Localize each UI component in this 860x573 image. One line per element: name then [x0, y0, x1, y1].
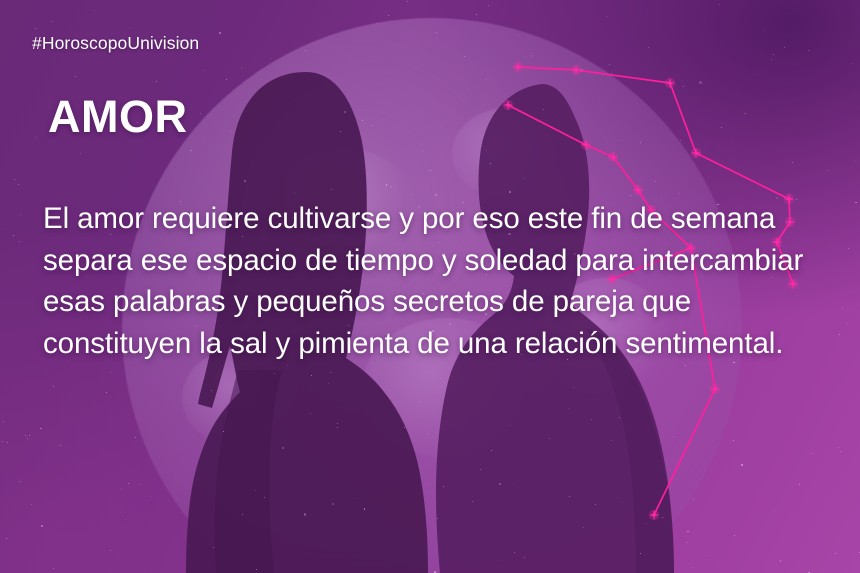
background-star — [480, 469, 481, 470]
background-star — [435, 194, 437, 196]
background-star — [687, 531, 689, 533]
background-star — [19, 241, 20, 242]
background-star — [95, 10, 96, 11]
background-star — [436, 32, 437, 33]
horoscope-card: #HoroscopoUnivision AMOR El amor requier… — [0, 0, 860, 573]
background-star — [422, 151, 423, 152]
background-star — [35, 28, 36, 29]
background-star — [244, 180, 246, 182]
background-star — [20, 481, 21, 482]
background-star — [282, 447, 284, 449]
background-star — [640, 553, 641, 554]
background-star — [361, 110, 362, 111]
background-star — [499, 483, 501, 485]
background-star — [371, 125, 372, 126]
background-star — [485, 78, 487, 80]
background-star — [80, 153, 81, 154]
background-star — [464, 56, 465, 57]
hashtag-label: #HoroscopoUnivision — [32, 33, 199, 54]
background-star — [569, 496, 570, 497]
background-star — [490, 163, 491, 164]
background-star — [390, 186, 392, 188]
background-star — [828, 170, 829, 171]
background-star — [611, 73, 612, 74]
background-star — [764, 30, 765, 31]
background-star — [111, 372, 112, 373]
background-star — [75, 76, 76, 77]
background-star — [543, 109, 544, 110]
background-star — [524, 178, 525, 179]
background-star — [706, 555, 707, 556]
background-star — [434, 571, 436, 573]
background-star — [168, 500, 169, 501]
background-star — [775, 510, 776, 511]
background-star — [771, 59, 772, 60]
background-star — [611, 440, 612, 441]
background-star — [514, 552, 515, 553]
background-star — [120, 512, 121, 513]
background-star — [203, 70, 204, 71]
background-star — [847, 323, 848, 324]
background-star — [581, 69, 584, 72]
background-star — [60, 445, 61, 446]
background-star — [364, 508, 366, 510]
background-star — [25, 435, 26, 436]
background-star — [340, 131, 341, 132]
background-star — [35, 137, 36, 138]
background-star — [685, 365, 686, 366]
background-star — [121, 489, 122, 490]
background-star — [648, 47, 649, 48]
background-star — [674, 436, 675, 437]
background-star — [18, 184, 19, 185]
background-star — [219, 32, 221, 34]
background-star — [274, 373, 275, 374]
background-star — [337, 427, 338, 428]
background-star — [573, 387, 574, 388]
background-star — [150, 496, 151, 497]
background-star — [53, 386, 54, 387]
background-star — [437, 518, 438, 519]
background-star — [524, 557, 525, 558]
background-star — [733, 440, 734, 441]
background-star — [344, 111, 346, 113]
background-star — [808, 50, 809, 51]
background-star — [621, 140, 622, 141]
background-star — [840, 451, 841, 452]
background-star — [377, 23, 378, 24]
background-star — [231, 131, 232, 132]
background-star — [646, 523, 648, 525]
background-star — [191, 402, 192, 403]
background-star — [835, 553, 836, 554]
background-star — [337, 423, 339, 425]
background-star — [40, 428, 42, 430]
background-star — [7, 442, 8, 443]
background-star — [591, 419, 592, 420]
background-star — [5, 229, 6, 230]
background-star — [52, 21, 53, 22]
background-star — [389, 390, 391, 392]
background-star — [699, 81, 702, 84]
background-star — [211, 390, 212, 391]
background-star — [27, 438, 28, 439]
background-star — [680, 140, 681, 141]
background-star — [693, 567, 694, 568]
background-star — [609, 64, 610, 65]
background-star — [295, 193, 296, 194]
background-star — [331, 189, 332, 190]
background-star — [721, 127, 722, 128]
background-star — [486, 150, 487, 151]
background-star — [686, 542, 687, 543]
background-star — [328, 383, 329, 384]
background-star — [226, 79, 227, 80]
horoscope-body-text: El amor requiere cultivarse y por eso es… — [43, 198, 839, 364]
background-star — [838, 447, 839, 448]
background-star — [106, 392, 107, 393]
background-star — [156, 81, 157, 82]
background-star — [420, 401, 421, 402]
page-title: AMOR — [48, 92, 187, 142]
background-star — [130, 27, 131, 28]
background-star — [185, 409, 186, 410]
background-star — [842, 308, 843, 309]
background-star — [362, 120, 363, 121]
background-star — [135, 437, 136, 438]
background-star — [719, 4, 720, 5]
background-star — [773, 54, 774, 55]
background-star — [353, 498, 354, 499]
background-star — [330, 372, 331, 373]
background-star — [190, 150, 192, 152]
background-star — [407, 1, 408, 2]
background-star — [855, 202, 857, 204]
background-star — [2, 441, 3, 442]
background-star — [443, 486, 444, 487]
background-star — [241, 67, 242, 68]
background-star — [472, 501, 473, 502]
background-star — [41, 525, 43, 527]
background-star — [488, 5, 489, 6]
background-star — [839, 334, 840, 335]
background-star — [476, 14, 477, 15]
background-star — [509, 191, 511, 193]
background-star — [223, 431, 224, 432]
background-star — [373, 370, 374, 371]
background-star — [619, 417, 620, 418]
background-star — [6, 538, 7, 539]
background-star — [595, 504, 596, 505]
background-star — [20, 214, 21, 215]
background-star — [852, 63, 853, 64]
background-star — [427, 434, 428, 435]
background-star — [256, 569, 257, 570]
background-star — [734, 535, 735, 536]
background-star — [630, 195, 631, 196]
background-star — [468, 89, 469, 90]
background-star — [617, 497, 618, 498]
background-star — [13, 235, 14, 236]
background-star — [848, 248, 849, 249]
background-star — [255, 490, 256, 491]
background-star — [29, 435, 30, 436]
background-star — [792, 162, 793, 163]
background-star — [510, 425, 511, 426]
background-star — [388, 15, 389, 16]
background-star — [305, 50, 306, 51]
background-star — [679, 193, 680, 194]
background-star — [311, 375, 312, 376]
background-star — [386, 184, 388, 186]
background-star — [607, 16, 608, 17]
background-star — [310, 413, 311, 414]
background-star — [512, 483, 513, 484]
background-star — [140, 484, 141, 485]
background-star — [683, 86, 684, 87]
background-star — [780, 560, 782, 562]
background-star — [287, 365, 288, 366]
background-star — [784, 47, 785, 48]
background-star — [812, 453, 813, 454]
background-star — [110, 550, 111, 551]
background-star — [404, 427, 405, 428]
background-star — [549, 438, 550, 439]
background-star — [568, 408, 569, 409]
background-star — [640, 142, 641, 143]
background-star — [491, 450, 492, 451]
background-star — [799, 484, 800, 485]
background-star — [14, 179, 15, 180]
background-star — [501, 560, 502, 561]
background-star — [3, 421, 4, 422]
background-star — [128, 483, 129, 484]
background-star — [270, 58, 271, 59]
background-star — [411, 194, 412, 195]
background-star — [518, 35, 519, 36]
background-star — [282, 62, 283, 63]
background-star — [530, 55, 532, 57]
background-star — [744, 113, 746, 115]
background-star — [430, 170, 431, 171]
background-star — [31, 504, 32, 505]
background-star — [693, 499, 694, 500]
background-star — [741, 464, 744, 467]
background-star — [242, 514, 243, 515]
background-star — [213, 547, 214, 548]
background-star — [332, 503, 334, 505]
background-star — [304, 513, 307, 516]
background-star — [655, 181, 656, 182]
background-star — [855, 160, 856, 161]
background-star — [264, 497, 265, 498]
background-star — [662, 517, 663, 518]
background-star — [583, 527, 584, 528]
background-star — [53, 568, 54, 569]
background-star — [200, 113, 201, 114]
